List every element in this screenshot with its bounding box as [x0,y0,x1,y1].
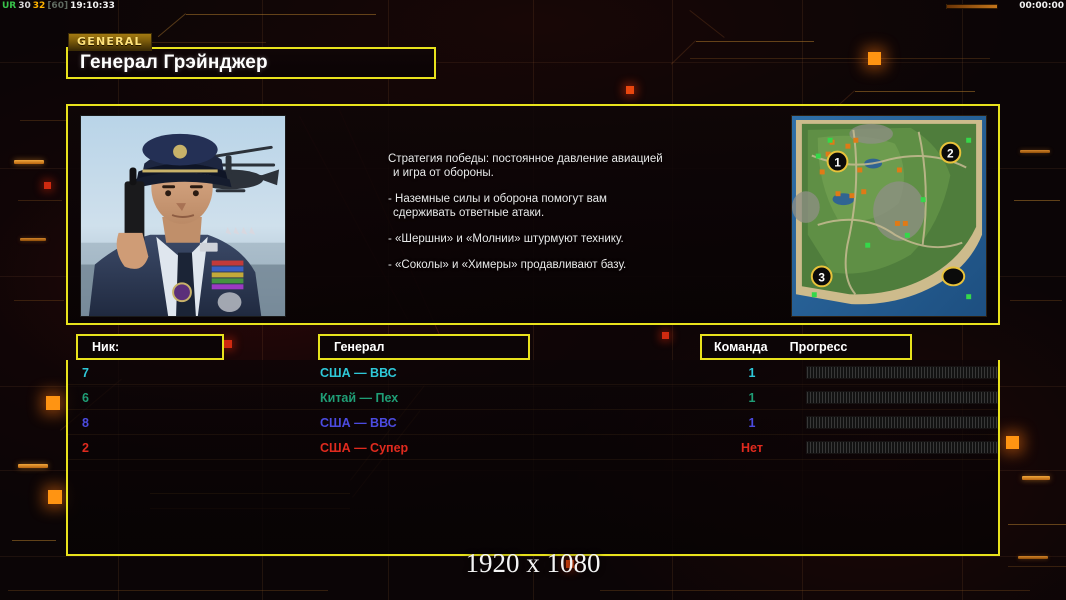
cell-nick: 6 [68,391,320,405]
column-header-general: Генерал [318,334,530,360]
column-header-nick-label: Ник: [78,340,119,354]
status-progress-bar [946,4,998,9]
status-value1: 30 [18,1,31,11]
player-table-body: 7США — ВВС16Китай — Пех18США — ВВС12США … [66,360,1000,556]
status-bar-left: UR3032[60]19:10:33 [2,0,117,13]
progress-bar-fill [807,392,997,403]
general-title-box: Генерал Грэйнджер [66,47,436,79]
cell-nick: 7 [68,366,320,380]
table-row[interactable]: 2США — СуперНет [68,435,998,460]
progress-bar-fill [807,442,997,453]
status-paren: [60] [47,1,68,11]
progress-bar [806,391,998,404]
status-tag: UR [2,1,16,11]
game-lobby-screen: UR3032[60]19:10:33 00:00:00 GENERAL Гене… [0,0,1066,600]
cell-team: 1 [698,391,806,405]
description-paragraph-4: - «Соколы» и «Химеры» продавливают базу. [388,258,818,272]
cell-general: Китай — Пех [320,391,698,405]
cell-progress [806,366,998,379]
column-header-progress-label: Прогресс [768,340,848,354]
column-header-team-progress: Команда Прогресс [700,334,912,360]
description-paragraph-2: - Наземные силы и оборона помогут вам сд… [388,192,818,220]
column-header-team-label: Команда [702,340,768,354]
description-line-1b: и игра от обороны. [388,166,818,180]
column-header-general-label: Генерал [320,340,384,354]
description-line-2b: сдерживать ответные атаки. [388,206,818,220]
progress-bar-fill [807,367,997,378]
cell-team: Нет [698,441,806,455]
status-value2: 32 [33,1,46,11]
cell-team: 1 [698,416,806,430]
cell-nick: 8 [68,416,320,430]
cell-progress [806,416,998,429]
table-row[interactable]: 8США — ВВС1 [68,410,998,435]
cell-progress [806,391,998,404]
cell-general: США — Супер [320,441,698,455]
progress-bar-fill [807,417,997,428]
minimap[interactable]: 1 2 3 [791,115,987,317]
match-timer: 00:00:00 [1019,0,1064,13]
description-paragraph-1: Стратегия победы: постоянное давление ав… [388,152,818,180]
progress-bar [806,366,998,379]
page-title: Генерал Грэйнджер [68,52,268,74]
status-bar: UR3032[60]19:10:33 00:00:00 [0,0,1066,13]
general-tab-label[interactable]: GENERAL [68,33,152,51]
description-paragraph-3: - «Шершни» и «Молнии» штурмуют технику. [388,232,818,246]
player-rows: 7США — ВВС16Китай — Пех18США — ВВС12США … [68,360,998,460]
cell-progress [806,441,998,454]
general-portrait [80,115,286,317]
cell-general: США — ВВС [320,366,698,380]
cell-team: 1 [698,366,806,380]
status-clock: 19:10:33 [70,1,115,11]
resolution-caption: 1920 x 1080 [0,548,1066,579]
column-header-nick: Ник: [76,334,224,360]
svg-text:2: 2 [947,147,954,161]
svg-text:1: 1 [834,155,841,169]
svg-text:3: 3 [818,270,825,284]
cell-general: США — ВВС [320,416,698,430]
description-line-1a: Стратегия победы: постоянное давление ав… [388,153,663,165]
table-row[interactable]: 6Китай — Пех1 [68,385,998,410]
progress-bar [806,441,998,454]
table-row[interactable]: 7США — ВВС1 [68,360,998,385]
cell-nick: 2 [68,441,320,455]
player-table-header: Ник: Генерал Команда Прогресс [0,334,1066,360]
progress-bar [806,416,998,429]
general-info-panel: Стратегия победы: постоянное давление ав… [66,104,1000,325]
general-description: Стратегия победы: постоянное давление ав… [388,152,818,272]
description-line-2a: - Наземные силы и оборона помогут вам [388,193,607,205]
